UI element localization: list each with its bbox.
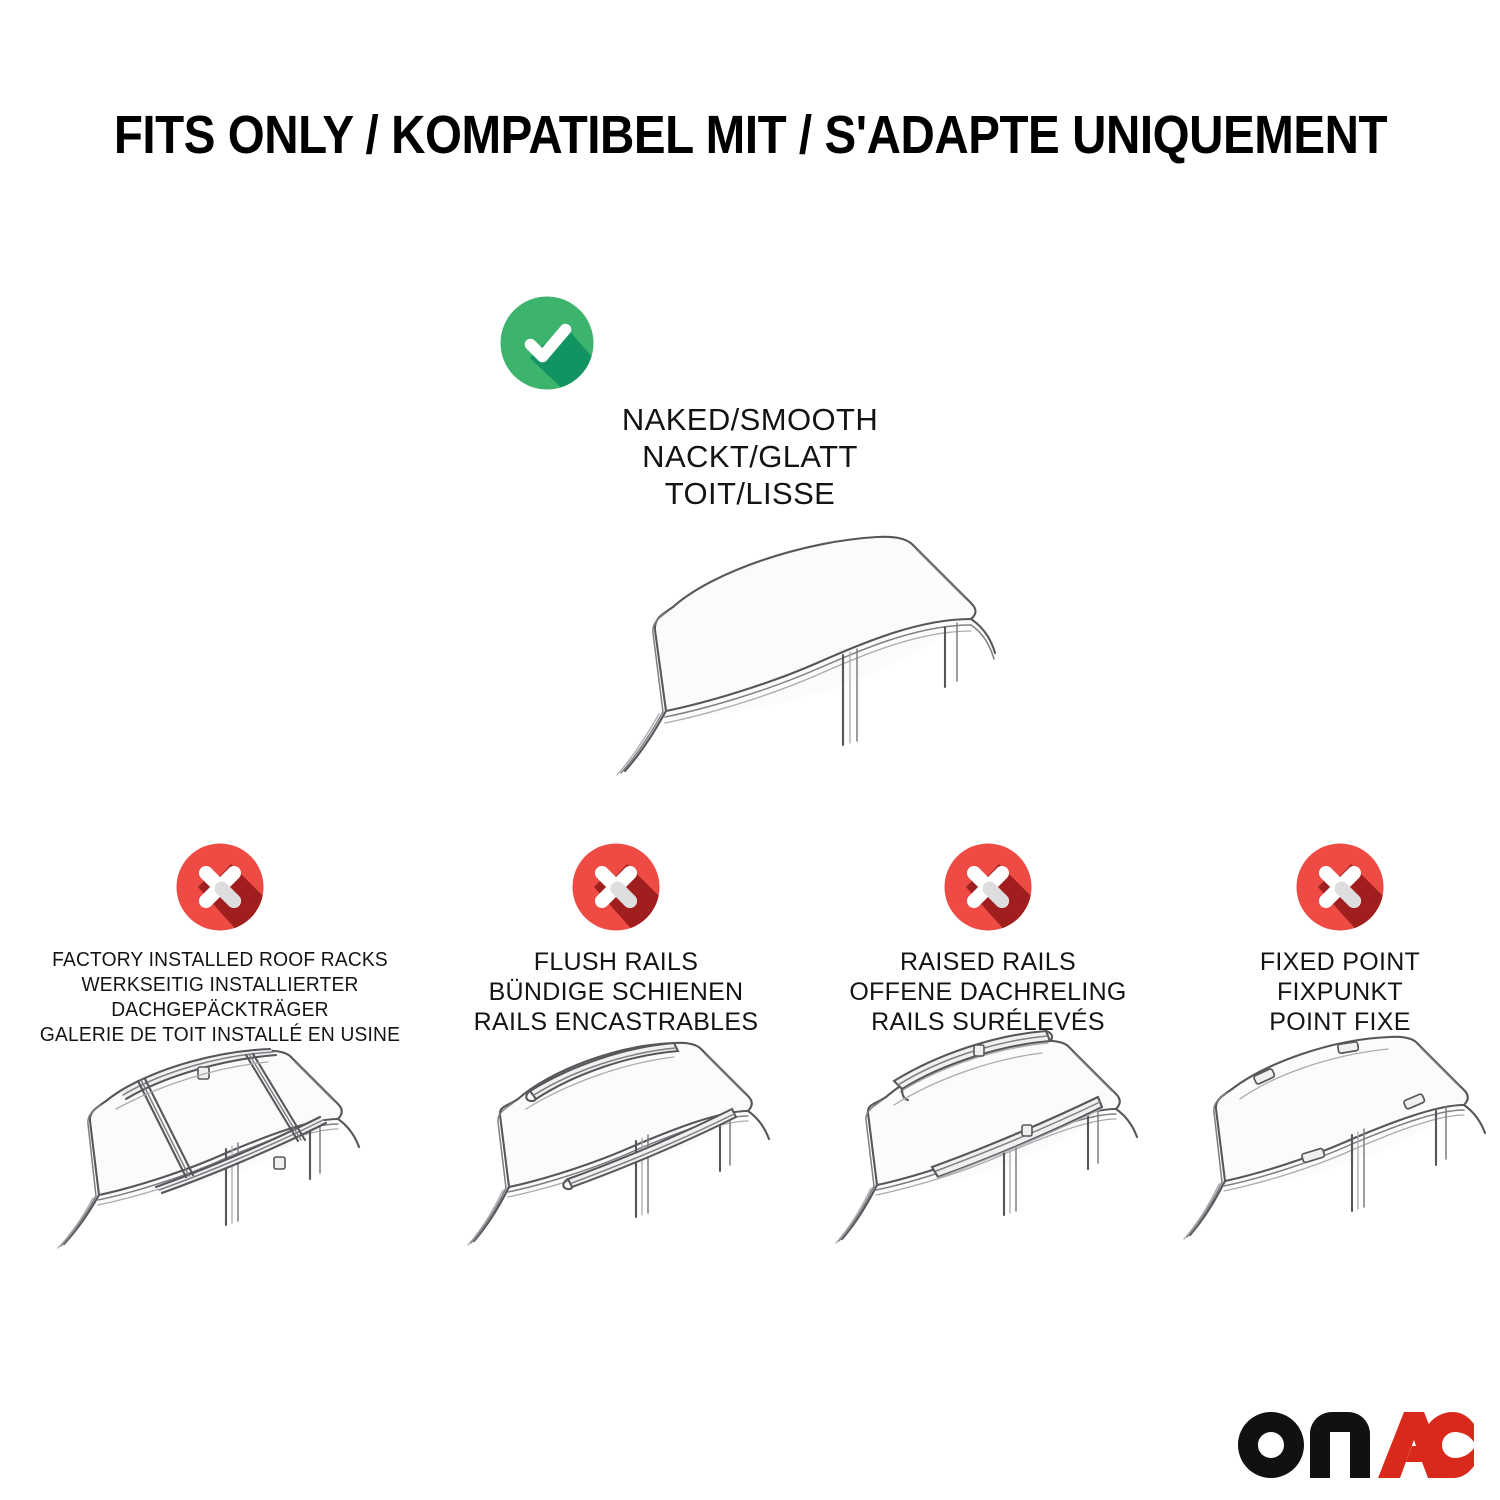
- compatible-roof-type: NAKED/SMOOTH NACKT/GLATT TOIT/LISSE: [500, 296, 1000, 512]
- cross-circle-icon: [800, 843, 1176, 941]
- compatible-label-de: NACKT/GLATT: [500, 438, 1000, 475]
- compatible-label-group: NAKED/SMOOTH NACKT/GLATT TOIT/LISSE: [500, 401, 1000, 512]
- incompatible-label-2-en: FLUSH RAILS: [438, 947, 794, 977]
- incompatible-label-3-de: OFFENE DACHRELING: [800, 977, 1176, 1007]
- car-roof-factory-roof-rack-illustration: [20, 1029, 420, 1056]
- car-roof-naked-smooth-illustration: [505, 515, 1025, 805]
- incompatible-label-4-de: FIXPUNKT: [1180, 977, 1500, 1007]
- incompatible-label-1-de-a: WERKSEITIG INSTALLIERTER: [15, 973, 426, 998]
- check-circle-icon: [500, 296, 1000, 390]
- incompatible-label-2-de: BÜNDIGE SCHIENEN: [438, 977, 794, 1007]
- incompatible-label-1-en: FACTORY INSTALLED ROOF RACKS: [15, 948, 426, 973]
- page-title: FITS ONLY / KOMPATIBEL MIT / S'ADAPTE UN…: [0, 104, 1500, 166]
- cross-circle-icon: [1180, 843, 1500, 941]
- incompatible-item-factory-roof-rack: FACTORY INSTALLED ROOF RACKS WERKSEITIG …: [6, 843, 434, 1048]
- incompatible-item-fixed-point: FIXED POINT FIXPUNKT POINT FIXE: [1180, 843, 1500, 1037]
- car-roof-flush-rails-illustration: [426, 1015, 806, 1045]
- cross-circle-icon: [438, 843, 794, 941]
- omac-logo: [1238, 1412, 1474, 1478]
- incompatible-roof-types: FACTORY INSTALLED ROOF RACKS WERKSEITIG …: [0, 843, 1500, 1303]
- cross-circle-icon: [6, 843, 434, 941]
- incompatible-item-flush-rails: FLUSH RAILS BÜNDIGE SCHIENEN RAILS ENCAS…: [438, 843, 794, 1037]
- incompatible-label-3-en: RAISED RAILS: [800, 947, 1176, 977]
- compatible-label-fr: TOIT/LISSE: [500, 475, 1000, 512]
- car-roof-fixed-point-illustration: [1170, 1015, 1500, 1045]
- page-title-text: FITS ONLY / KOMPATIBEL MIT / S'ADAPTE UN…: [113, 104, 1386, 166]
- car-roof-raised-rails-illustration: [798, 1015, 1178, 1045]
- incompatible-label-4-en: FIXED POINT: [1180, 947, 1500, 977]
- incompatible-label-1-de-b: DACHGEPÄCKTRÄGER: [15, 998, 426, 1023]
- incompatible-item-raised-rails: RAISED RAILS OFFENE DACHRELING RAILS SUR…: [800, 843, 1176, 1037]
- compatible-label-en: NAKED/SMOOTH: [500, 401, 1000, 438]
